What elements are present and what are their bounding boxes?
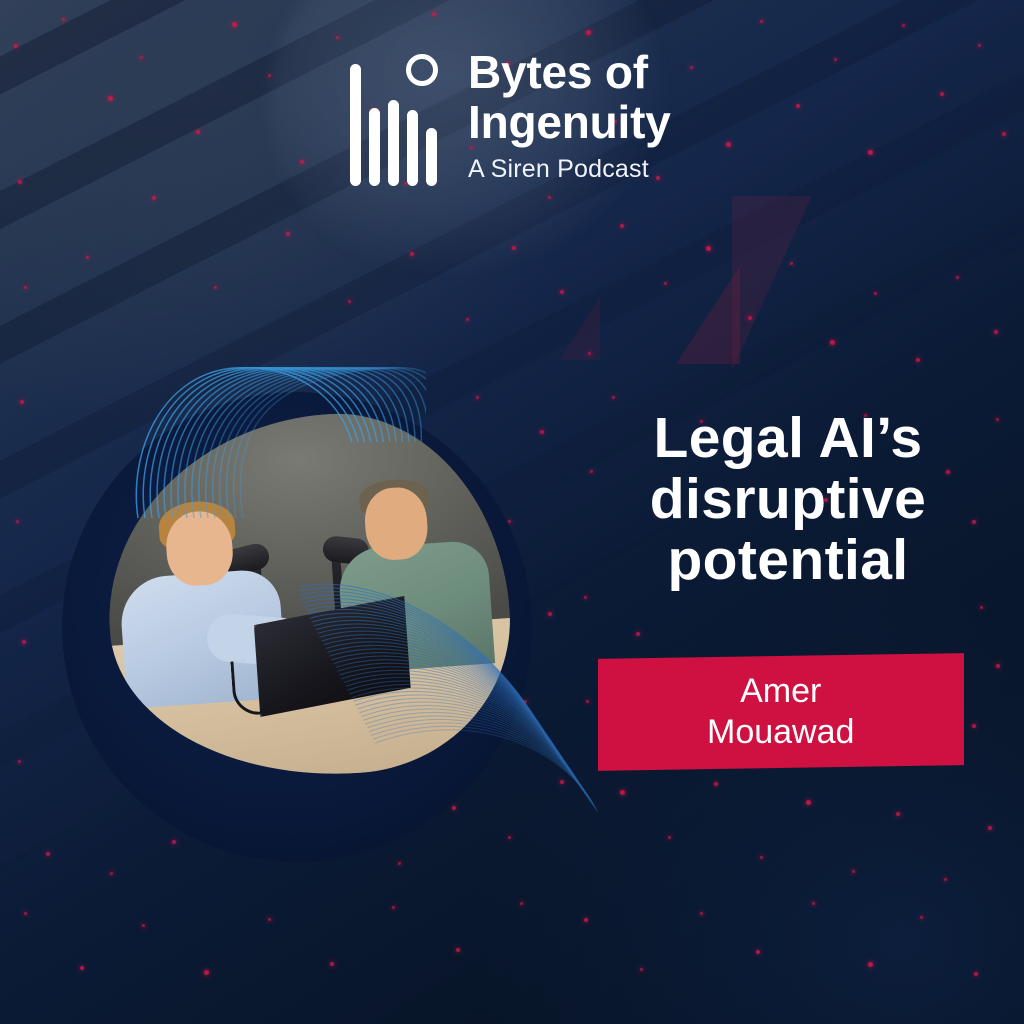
particle-dot — [586, 30, 591, 35]
particle-dot — [584, 918, 588, 922]
audio-waveform-icon — [350, 46, 442, 186]
particle-dot — [14, 44, 18, 48]
particle-dot — [232, 22, 237, 27]
particle-dot — [204, 970, 209, 975]
particle-dot — [760, 20, 763, 23]
particle-dot — [16, 520, 19, 523]
particle-dot — [268, 74, 271, 77]
particle-dot — [996, 418, 999, 421]
brand-title: Bytes of Ingenuity — [468, 48, 671, 147]
particle-dot — [20, 400, 24, 404]
particle-dot — [476, 396, 479, 399]
particle-dot — [110, 872, 113, 875]
particle-dot — [336, 36, 339, 39]
particle-dot — [956, 276, 959, 279]
particle-dot — [756, 950, 760, 954]
particle-dot — [300, 160, 304, 164]
particle-dot — [140, 56, 143, 59]
particle-dot — [812, 902, 815, 905]
particle-dot — [172, 840, 176, 844]
particle-dot — [902, 24, 905, 27]
particle-dot — [690, 66, 693, 69]
waveform-bar-4 — [407, 110, 418, 186]
particle-dot — [868, 962, 873, 967]
particle-dot — [916, 358, 920, 362]
particle-dot — [748, 316, 752, 320]
particle-dot — [852, 870, 855, 873]
particle-dot — [286, 232, 290, 236]
particle-dot — [86, 256, 89, 259]
particle-dot — [834, 58, 837, 61]
waveform-dot-icon — [406, 54, 438, 86]
particle-dot — [868, 150, 873, 155]
waveform-bar-2 — [369, 108, 380, 186]
particle-dot — [214, 286, 217, 289]
particle-dot — [80, 966, 84, 970]
particle-dot — [896, 812, 900, 816]
particle-dot — [996, 664, 1000, 668]
particle-dot — [24, 286, 27, 289]
particle-dot — [664, 282, 667, 285]
particle-dot — [668, 836, 671, 839]
particle-dot — [920, 916, 923, 919]
particle-dot — [392, 906, 395, 909]
particle-dot — [560, 290, 564, 294]
particle-dot — [806, 800, 811, 805]
particle-dot — [584, 596, 587, 599]
particle-dot — [548, 196, 551, 199]
particle-dot — [714, 782, 718, 786]
particle-dot — [994, 330, 998, 334]
brand-subtitle: A Siren Podcast — [468, 155, 671, 184]
particle-dot — [706, 246, 711, 251]
particle-dot — [456, 948, 460, 952]
particle-dot — [18, 760, 21, 763]
particle-dot — [46, 852, 50, 856]
particle-dot — [796, 104, 800, 108]
particle-dot — [988, 826, 992, 830]
particle-dot — [520, 902, 523, 905]
brand-lockup: Bytes of Ingenuity A Siren Podcast — [350, 46, 671, 186]
waveform-bar-1 — [350, 64, 361, 186]
particle-dot — [640, 968, 643, 971]
podcast-cover-art: Bytes of Ingenuity A Siren Podcast — [0, 0, 1024, 1024]
waveform-bar-5 — [426, 128, 437, 186]
particle-dot — [726, 142, 731, 147]
particle-dot — [620, 224, 624, 228]
particle-dot — [108, 96, 113, 101]
particle-dot — [452, 806, 456, 810]
particle-dot — [540, 430, 544, 434]
particle-dot — [560, 780, 564, 784]
particle-dot — [1002, 132, 1006, 136]
particle-dot — [620, 790, 625, 795]
particle-dot — [432, 12, 436, 16]
particle-dot — [330, 962, 334, 966]
particle-dot — [980, 606, 983, 609]
studio-photo — [96, 402, 520, 789]
brand-text: Bytes of Ingenuity A Siren Podcast — [468, 46, 671, 184]
particle-dot — [196, 130, 200, 134]
particle-dot — [700, 912, 703, 915]
guest-name: Amer Mouawad — [707, 671, 854, 754]
particle-dot — [398, 862, 401, 865]
particle-dot — [62, 18, 65, 21]
particle-dot — [940, 92, 944, 96]
particle-dot — [944, 878, 947, 881]
episode-title: Legal AI’s disruptive potential — [586, 408, 990, 591]
particle-dot — [524, 700, 527, 703]
particle-dot — [142, 924, 145, 927]
particle-dot — [152, 196, 156, 200]
particle-dot — [512, 246, 516, 250]
particle-dot — [268, 918, 271, 921]
particle-dot — [348, 300, 351, 303]
guest-name-badge: Amer Mouawad — [598, 653, 964, 771]
particle-dot — [830, 340, 835, 345]
particle-dot — [978, 44, 981, 47]
particle-dot — [508, 520, 511, 523]
particle-dot — [548, 612, 552, 616]
particle-dot — [18, 180, 22, 184]
particle-dot — [410, 252, 414, 256]
episode-photo-bubble — [62, 392, 532, 862]
particle-dot — [586, 700, 589, 703]
particle-dot — [588, 352, 591, 355]
particle-dot — [466, 318, 469, 321]
waveform-bar-3 — [388, 100, 399, 186]
particle-dot — [760, 856, 763, 859]
particle-dot — [22, 640, 26, 644]
photo-blob-mask — [96, 402, 520, 789]
particle-dot — [790, 262, 793, 265]
particle-dot — [874, 292, 877, 295]
particle-dot — [636, 632, 640, 636]
particle-dot — [612, 396, 615, 399]
particle-dot — [974, 972, 978, 976]
particle-dot — [508, 836, 511, 839]
particle-dot — [972, 724, 976, 728]
particle-dot — [24, 912, 27, 915]
